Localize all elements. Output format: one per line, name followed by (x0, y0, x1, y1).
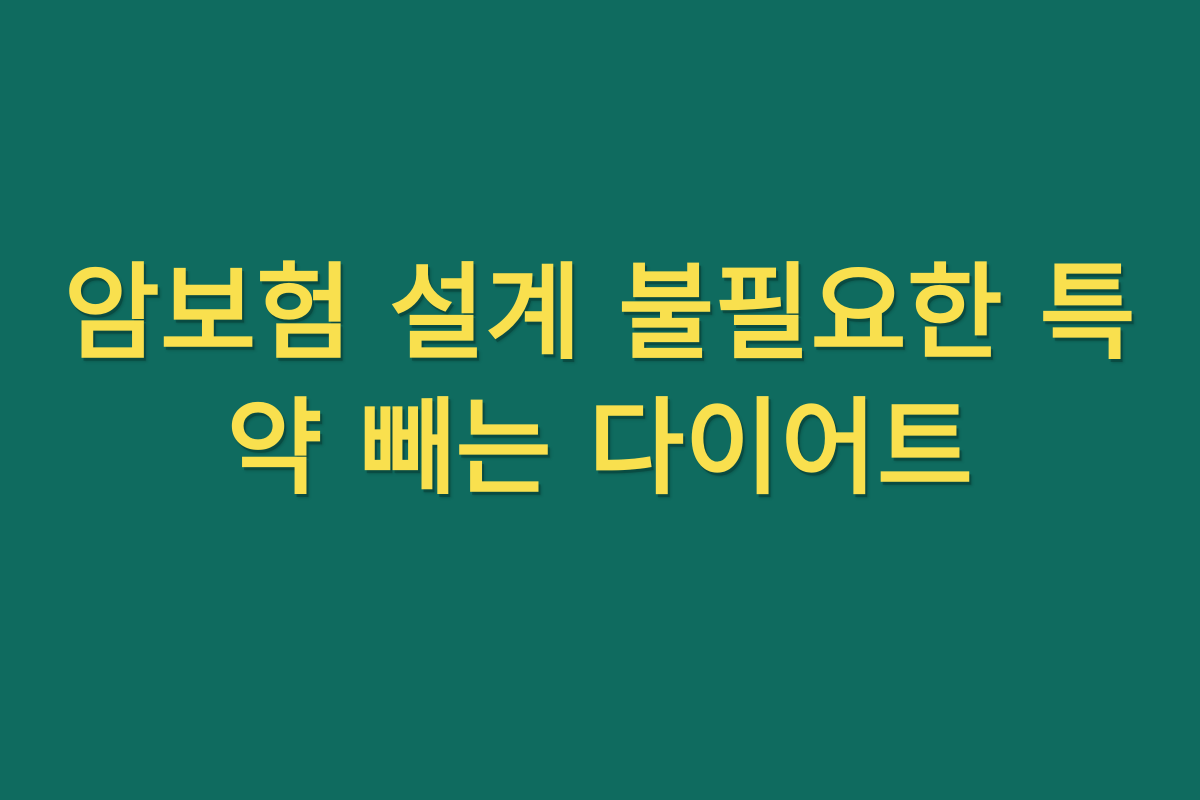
banner-title-block: 암보험 설계 불필요한 특 약 빼는 다이어트 (40, 246, 1160, 516)
banner-background: 암보험 설계 불필요한 특 약 빼는 다이어트 (0, 0, 1200, 800)
banner-title-line-1: 암보험 설계 불필요한 특 (40, 246, 1160, 381)
banner-title-line-2: 약 빼는 다이어트 (40, 381, 1160, 516)
